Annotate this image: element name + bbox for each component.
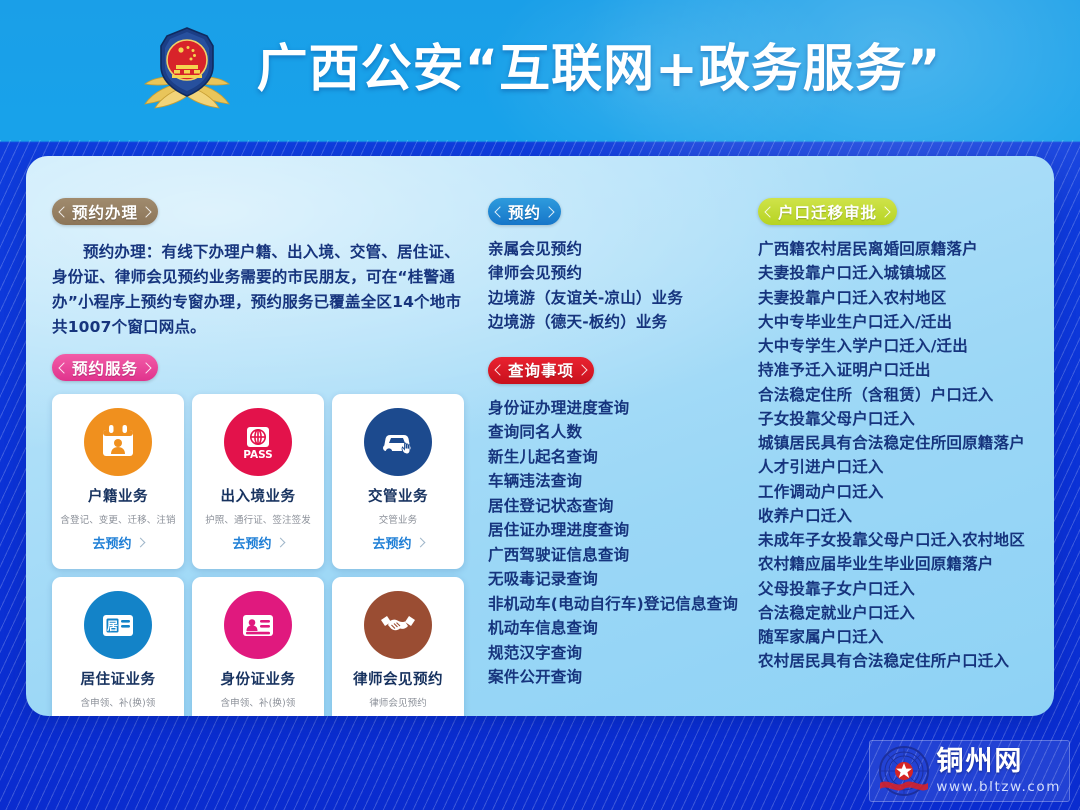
id-card-icon [224,591,292,659]
list-item[interactable]: 大中专学生入学户口迁入/迁出 [758,334,1028,358]
card-subtitle: 含申领、补(换)领 [81,695,156,709]
list-item[interactable]: 持准予迁入证明户口迁出 [758,358,1028,382]
page-title: 广西公安“互联网+政务服务” [257,44,942,95]
list-item[interactable]: 大中专毕业生户口迁入/迁出 [758,310,1028,334]
calendar-person-icon [84,408,152,476]
svg-text:居: 居 [107,620,118,633]
card-title: 出入境业务 [221,485,296,506]
list-item[interactable]: 人才引进户口迁入 [758,455,1028,479]
middle-column: 预约 亲属会见预约 律师会见预约 边境游（友谊关-凉山）业务 边境游（德天-板约… [482,198,744,716]
list-item[interactable]: 查询同名人数 [488,420,744,444]
query-item-list: 身份证办理进度查询 查询同名人数 新生儿起名查询 车辆违法查询 居住登记状态查询… [488,396,744,690]
list-item[interactable]: 规范汉字查询 [488,641,744,665]
list-item[interactable]: 居住登记状态查询 [488,494,744,518]
card-book-label: 去预约 [232,533,271,552]
card-book-label: 去预约 [372,533,411,552]
list-item[interactable]: 工作调动户口迁入 [758,480,1028,504]
list-item[interactable]: 城镇居民具有合法稳定住所回原籍落户 [758,431,1028,455]
list-item[interactable]: 合法稳定就业户口迁入 [758,601,1028,625]
svg-text:PASS: PASS [243,449,273,461]
list-item[interactable]: 广西籍农村居民离婚回原籍落户 [758,237,1028,261]
car-hand-icon [364,408,432,476]
handshake-icon [364,591,432,659]
left-column: 预约办理 预约办理：有线下办理户籍、出入境、交管、居住证、身份证、律师会见预约业… [52,198,482,716]
list-item[interactable]: 合法稳定住所（含租赁）户口迁入 [758,383,1028,407]
list-item[interactable]: 农村籍应届毕业生毕业回原籍落户 [758,552,1028,576]
list-item[interactable]: 边境游（友谊关-凉山）业务 [488,286,744,310]
list-item[interactable]: 子女投靠父母户口迁入 [758,407,1028,431]
list-item[interactable]: 夫妻投靠户口迁入农村地区 [758,286,1028,310]
service-card-traffic[interactable]: 交管业务 交管业务 去预约 [332,394,464,569]
list-item[interactable]: 收养户口迁入 [758,504,1028,528]
card-title: 居住证业务 [81,668,156,689]
residence-card-icon: 居 [84,591,152,659]
card-title: 律师会见预约 [353,668,443,689]
passport-globe-icon: PASS [224,408,292,476]
badge-appointment-service: 预约服务 [52,354,158,381]
china-police-emblem-icon [139,22,235,116]
transfer-item-list: 广西籍农村居民离婚回原籍落户 夫妻投靠户口迁入城镇城区 夫妻投靠户口迁入农村地区… [758,237,1028,674]
site-watermark: 铜州网 www.bltzw.com [869,740,1070,802]
list-item[interactable]: 随军家属户口迁入 [758,625,1028,649]
card-subtitle: 含登记、变更、迁移、注销 [60,512,175,526]
list-item[interactable]: 无吸毒记录查询 [488,567,744,591]
list-item[interactable]: 未成年子女投靠父母户口迁入农村地区 [758,528,1028,552]
list-item[interactable]: 新生儿起名查询 [488,445,744,469]
list-item[interactable]: 广西驾驶证信息查询 [488,543,744,567]
list-item[interactable]: 身份证办理进度查询 [488,396,744,420]
card-title: 户籍业务 [88,485,148,506]
intro-paragraph: 预约办理：有线下办理户籍、出入境、交管、居住证、身份证、律师会见预约业务需要的市… [52,240,462,340]
badge-household-transfer-approval: 户口迁移审批 [758,198,897,225]
right-column: 户口迁移审批 广西籍农村居民离婚回原籍落户 夫妻投靠户口迁入城镇城区 夫妻投靠户… [744,198,1028,716]
watermark-site-url: www.bltzw.com [936,779,1061,795]
card-book-link[interactable]: 去预约 [92,533,143,552]
card-subtitle: 交管业务 [379,512,417,526]
appointment-item-list: 亲属会见预约 律师会见预约 边境游（友谊关-凉山）业务 边境游（德天-板约）业务 [488,237,744,335]
list-item[interactable]: 车辆违法查询 [488,469,744,493]
list-item[interactable]: 夫妻投靠户口迁入城镇城区 [758,261,1028,285]
circular-seal-icon [878,745,930,797]
badge-appointment: 预约 [488,198,561,225]
card-title: 身份证业务 [221,668,296,689]
list-item[interactable]: 律师会见预约 [488,261,744,285]
list-item[interactable]: 亲属会见预约 [488,237,744,261]
service-card-exit-entry[interactable]: PASS 出入境业务 护照、通行证、签注签发 去预约 [192,394,324,569]
service-card-grid: 户籍业务 含登记、变更、迁移、注销 去预约 [52,394,482,716]
list-item[interactable]: 居住证办理进度查询 [488,518,744,542]
list-item[interactable]: 农村居民具有合法稳定住所户口迁入 [758,649,1028,673]
list-item[interactable]: 机动车信息查询 [488,616,744,640]
card-title: 交管业务 [368,485,428,506]
card-book-link[interactable]: 去预约 [232,533,283,552]
badge-appointment-handling: 预约办理 [52,198,158,225]
chevron-right-icon [135,538,145,548]
service-card-household[interactable]: 户籍业务 含登记、变更、迁移、注销 去预约 [52,394,184,569]
poster-canvas: 广西公安“互联网+政务服务” 预约办理 预约办理：有线下办理户籍、出入境、交管、… [0,0,1080,810]
page-header: 广西公安“互联网+政务服务” [0,0,1080,142]
list-item[interactable]: 边境游（德天-板约）业务 [488,310,744,334]
list-item[interactable]: 非机动车(电动自行车)登记信息查询 [488,592,744,616]
service-card-id-card[interactable]: 身份证业务 含申领、补(换)领 去预约 [192,577,324,716]
service-card-lawyer-meeting[interactable]: 律师会见预约 律师会见预约 去预约 [332,577,464,716]
badge-query-items: 查询事项 [488,357,594,384]
list-item[interactable]: 案件公开查询 [488,665,744,689]
card-subtitle: 护照、通行证、签注签发 [205,512,311,526]
card-subtitle: 律师会见预约 [369,695,427,709]
chevron-right-icon [415,538,425,548]
card-subtitle: 含申领、补(换)领 [221,695,296,709]
service-card-residence-permit[interactable]: 居 居住证业务 含申领、补(换)领 去预约 [52,577,184,716]
card-book-label: 去预约 [92,533,131,552]
content-panel: 预约办理 预约办理：有线下办理户籍、出入境、交管、居住证、身份证、律师会见预约业… [26,156,1054,716]
list-item[interactable]: 父母投靠子女户口迁入 [758,577,1028,601]
chevron-right-icon [275,538,285,548]
card-book-link[interactable]: 去预约 [372,533,423,552]
watermark-site-name: 铜州网 [936,748,1023,775]
